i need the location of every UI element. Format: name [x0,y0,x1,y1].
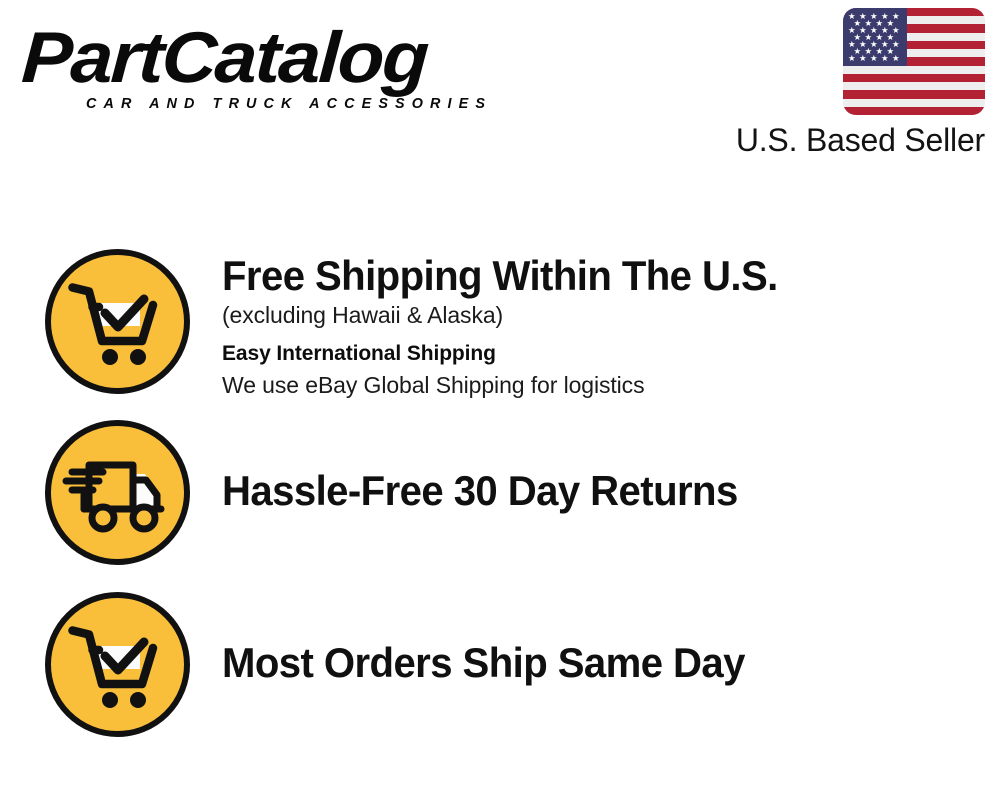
feature-text-block: Most Orders Ship Same Day [222,640,770,686]
flag-stripe [843,82,985,90]
feature-heading: Hassle-Free 30 Day Returns [222,468,738,514]
feature-heading: Free Shipping Within The U.S. [222,253,948,299]
flag-stripe [843,107,985,115]
seller-badge-label: U.S. Based Seller [715,122,985,158]
flag-stripe [843,74,985,82]
feature-subtext: (excluding Hawaii & Alaska) [222,299,982,331]
shopping-cart-check-icon [43,247,192,396]
seller-badge: ★ ★ ★ ★ ★ ★ ★ ★ ★ ★ ★ ★ ★ ★ ★ ★ ★ ★ ★ ★ [715,8,985,158]
feature-text-block: Hassle-Free 30 Day Returns [222,468,762,514]
brand-tagline: CAR AND TRUCK ACCESSORIES [86,96,492,112]
shopping-cart-check-icon [43,590,192,739]
page-header: PartCatalog CAR AND TRUCK ACCESSORIES ★ … [0,0,1000,185]
us-flag-icon: ★ ★ ★ ★ ★ ★ ★ ★ ★ ★ ★ ★ ★ ★ ★ ★ ★ ★ ★ ★ [843,8,985,115]
feature-row: Hassle-Free 30 Day Returns [0,418,1000,570]
flag-stripe [843,99,985,107]
flag-stripe [843,90,985,98]
feature-heading: Most Orders Ship Same Day [222,640,745,686]
brand-wordmark: PartCatalog [20,22,522,94]
feature-subtext-strong: Easy International Shipping [222,338,982,369]
feature-text-block: Free Shipping Within The U.S. (excluding… [222,247,982,401]
delivery-truck-icon [43,418,192,567]
feature-subtext-secondary: We use eBay Global Shipping for logistic… [222,369,982,401]
brand-logo[interactable]: PartCatalog CAR AND TRUCK ACCESSORIES [24,22,494,117]
flag-canton: ★ ★ ★ ★ ★ ★ ★ ★ ★ ★ ★ ★ ★ ★ ★ ★ ★ ★ ★ ★ [843,8,907,66]
flag-stripe [843,66,985,74]
feature-row: Free Shipping Within The U.S. (excluding… [0,247,1000,399]
feature-row: Most Orders Ship Same Day [0,590,1000,742]
